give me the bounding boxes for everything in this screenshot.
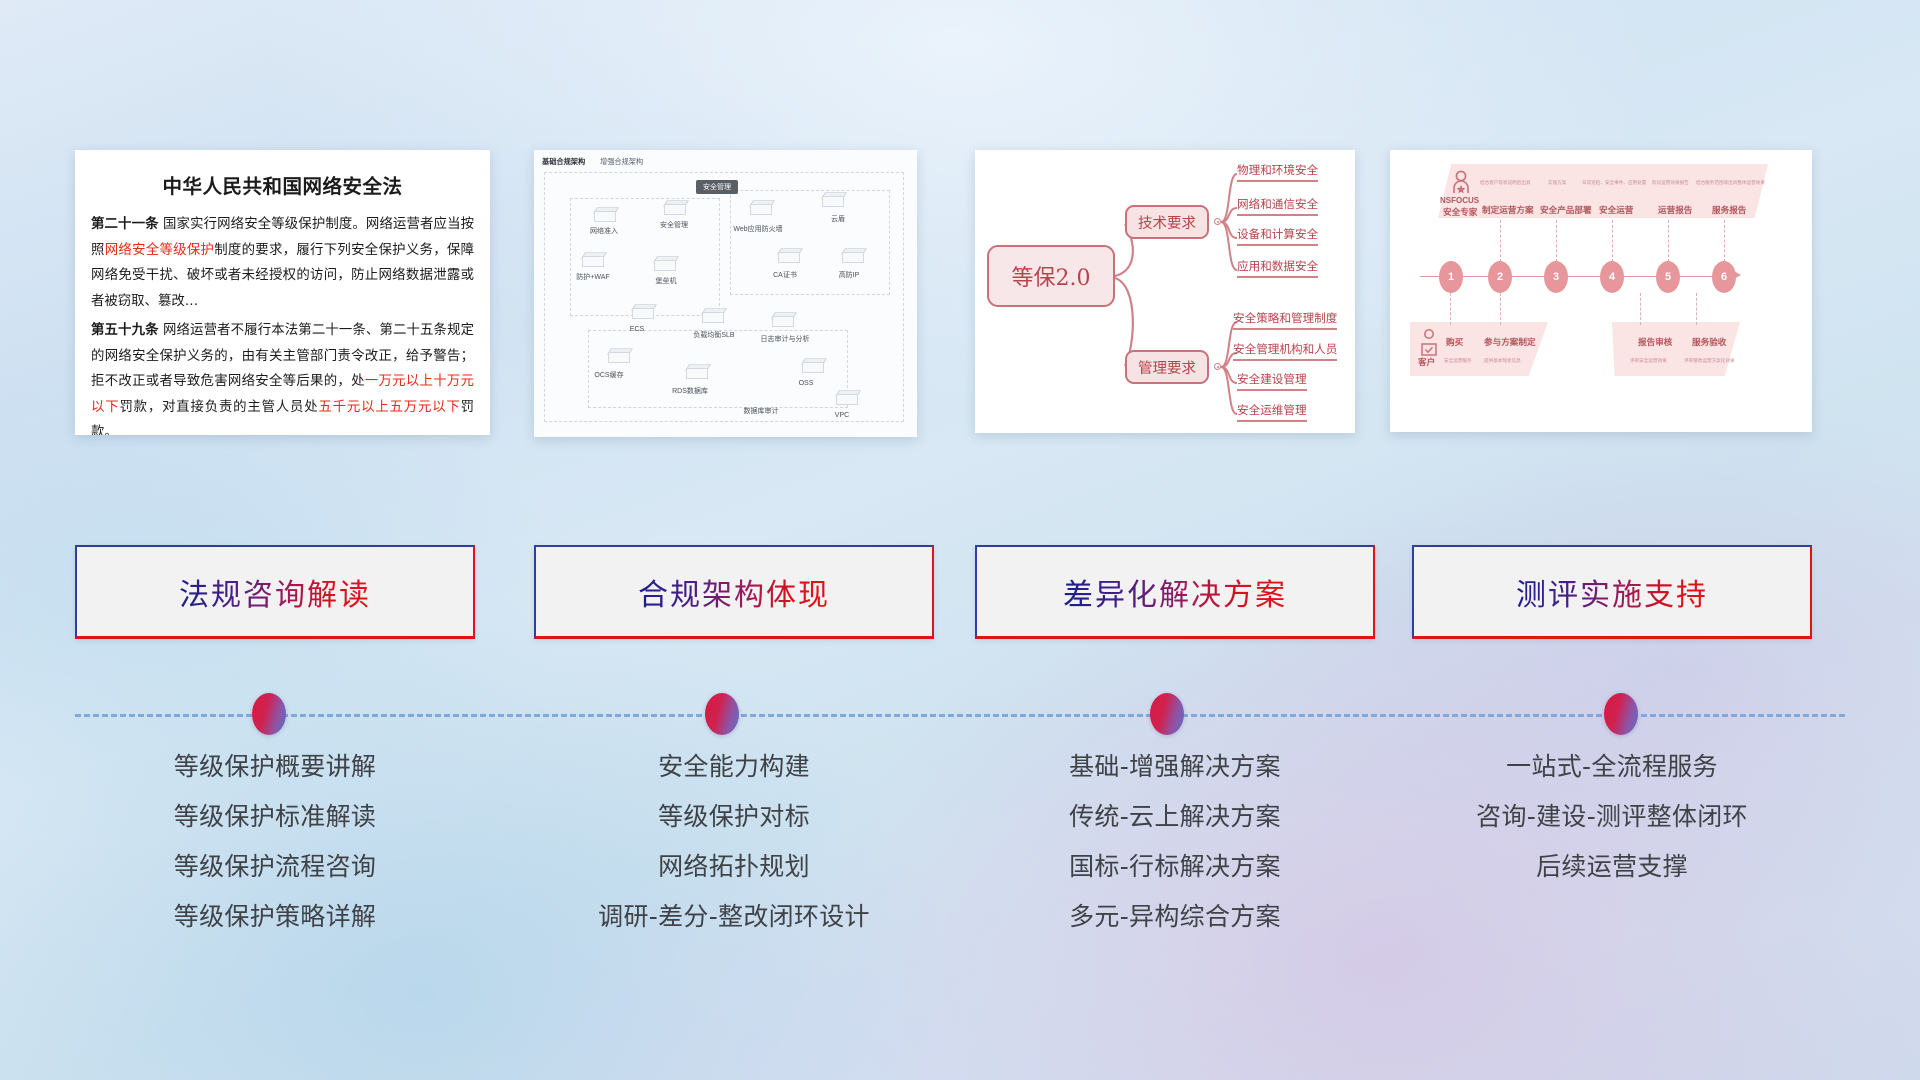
mindmap-collapse-icon-technical[interactable] xyxy=(1214,218,1221,225)
heading-label-1: 法规咨询解读 xyxy=(179,570,371,614)
roadmap-bottom-small-1: 安全运营服务 xyxy=(1444,358,1472,364)
mindmap-collapse-icon-management[interactable] xyxy=(1214,363,1221,370)
mindmap-leaf-m2[interactable]: 安全管理机构和人员 xyxy=(1233,341,1337,361)
roadmap-step-2[interactable]: 2 xyxy=(1488,261,1512,293)
arch-node-9: 负载均衡SLB xyxy=(674,330,754,340)
bullet-column-4: 一站式-全流程服务 咨询-建设-测评整体闭环 后续运营支撑 xyxy=(1412,742,1812,892)
list-item: 等级保护对标 xyxy=(534,792,934,842)
article-21-highlight: 网络安全等级保护 xyxy=(105,243,215,258)
bullet-column-1: 等级保护概要讲解 等级保护标准解读 等级保护流程咨询 等级保护策略详解 xyxy=(75,742,475,942)
arch-node-8: ECS xyxy=(612,326,662,333)
arch-node-6: CA证书 xyxy=(760,270,810,280)
arch-node-2: 防护+WAF xyxy=(562,272,624,282)
roadmap-step-3[interactable]: 3 xyxy=(1544,261,1568,293)
timeline-dashed-line xyxy=(75,714,1845,717)
list-item: 一站式-全流程服务 xyxy=(1412,742,1812,792)
arch-cube-10 xyxy=(700,306,726,324)
list-item: 等级保护标准解读 xyxy=(75,792,475,842)
expert-label-line2: 安全专家 xyxy=(1443,206,1477,218)
mindmap-root[interactable]: 等保2.0 xyxy=(987,245,1115,307)
roadmap-connector-2 xyxy=(1500,220,1501,262)
roadmap-top-small-1: 结合客户现状说明后出具 xyxy=(1480,180,1531,186)
mindmap-leaf-t1[interactable]: 物理和环境安全 xyxy=(1237,162,1318,182)
roadmap-connector-6b xyxy=(1696,293,1697,325)
roadmap-connector-5b xyxy=(1640,293,1641,325)
arch-node-12: RDS数据库 xyxy=(660,386,720,396)
heading-label-2: 合规架构体现 xyxy=(638,570,830,614)
list-item: 国标-行标解决方案 xyxy=(975,842,1375,892)
card-cloud-architecture[interactable]: 基础合规架构 增强合规架构 安全管理 网络准入 安全管理 防护+W xyxy=(534,150,917,437)
arch-cube-4 xyxy=(652,254,678,272)
arch-cube-8 xyxy=(840,246,866,264)
article-21-label: 第二十一条 xyxy=(91,217,159,232)
arch-cube-15 xyxy=(834,388,860,406)
arch-node-1: 安全管理 xyxy=(646,220,702,230)
heading-box-regulation-consulting[interactable]: 法规咨询解读 xyxy=(75,545,475,639)
arch-node-10: 日志审计与分析 xyxy=(750,334,820,344)
roadmap-top-big-2: 安全产品部署 xyxy=(1540,204,1592,216)
roadmap-top-small-5: 结合服务范围等出具整体运营效果 xyxy=(1696,180,1765,186)
arch-cube-14 xyxy=(800,356,826,374)
roadmap-diagram: NSFOCUS 安全专家 结合客户现状说明后出具 实施方案 日常巡检、安全事件、… xyxy=(1390,150,1812,432)
arch-cube-6 xyxy=(820,190,846,208)
expert-person-icon xyxy=(1446,168,1476,198)
heading-label-4: 测评实施支持 xyxy=(1516,570,1708,614)
arch-node-4: Web应用防火墙 xyxy=(720,224,796,234)
roadmap-step-5[interactable]: 5 xyxy=(1656,261,1680,293)
roadmap-top-small-4: 阶段运营效果报告 xyxy=(1652,180,1689,186)
arch-cube-7 xyxy=(776,246,802,264)
arch-cube-11 xyxy=(770,310,796,328)
bullet-column-2: 安全能力构建 等级保护对标 网络拓扑规划 调研-差分-整改闭环设计 xyxy=(534,742,934,942)
bullet-column-3: 基础-增强解决方案 传统-云上解决方案 国标-行标解决方案 多元-异构综合方案 xyxy=(975,742,1375,942)
article-59-label: 第五十九条 xyxy=(91,323,159,338)
card-service-roadmap[interactable]: NSFOCUS 安全专家 结合客户现状说明后出具 实施方案 日常巡检、安全事件、… xyxy=(1390,150,1812,432)
article-59-text-b: 罚款，对直接负责的主管人员处 xyxy=(119,400,318,415)
mindmap-leaf-m3[interactable]: 安全建设管理 xyxy=(1237,371,1307,391)
list-item: 网络拓扑规划 xyxy=(534,842,934,892)
arch-chip-security-management: 安全管理 xyxy=(696,180,738,194)
roadmap-step-1[interactable]: 1 xyxy=(1439,261,1463,293)
roadmap-connector-5 xyxy=(1668,220,1669,262)
list-item: 调研-差分-整改闭环设计 xyxy=(534,892,934,942)
roadmap-connector-3 xyxy=(1556,220,1557,262)
roadmap-top-small-3: 日常巡检、安全事件、应用处置 xyxy=(1582,180,1646,186)
arch-tab-basic[interactable]: 基础合规架构 xyxy=(542,157,585,167)
roadmap-bottom-big-3: 报告审核 xyxy=(1638,336,1672,348)
arch-node-13: OSS xyxy=(784,380,828,387)
roadmap-step-6[interactable]: 6 xyxy=(1712,261,1736,293)
timeline-dot-1[interactable] xyxy=(252,693,286,735)
arch-node-11: OCS缓存 xyxy=(582,370,636,380)
expert-label-line1: NSFOCUS xyxy=(1440,196,1479,205)
card-mindmap-dengbao[interactable]: 等保2.0 技术要求 管理要求 物理和环境安全 网络和通信安全 设备和计算安全 … xyxy=(975,150,1355,433)
law-article-21: 第二十一条 国家实行网络安全等级保护制度。网络运营者应当按照网络安全等级保护制度… xyxy=(91,212,474,314)
list-item: 多元-异构综合方案 xyxy=(975,892,1375,942)
heading-row: 法规咨询解读 合规架构体现 差异化解决方案 测评实施支持 xyxy=(0,545,1920,645)
mindmap-leaf-t3[interactable]: 设备和计算安全 xyxy=(1237,226,1318,246)
heading-box-assessment-support[interactable]: 测评实施支持 xyxy=(1412,545,1812,639)
list-item: 传统-云上解决方案 xyxy=(975,792,1375,842)
roadmap-connector-1b xyxy=(1450,293,1451,325)
roadmap-bottom-big-4: 服务验收 xyxy=(1692,336,1726,348)
list-item: 咨询-建设-测评整体闭环 xyxy=(1412,792,1812,842)
list-item: 等级保护策略详解 xyxy=(75,892,475,942)
roadmap-bottom-small-2: 提供基本现状信息 xyxy=(1484,358,1521,364)
card-cybersecurity-law[interactable]: 中华人民共和国网络安全法 第二十一条 国家实行网络安全等级保护制度。网络运营者应… xyxy=(75,150,490,435)
law-article-59: 第五十九条 网络运营者不履行本法第二十一条、第二十五条规定的网络安全保护义务的，… xyxy=(91,318,474,435)
list-item: 安全能力构建 xyxy=(534,742,934,792)
arch-cube-1 xyxy=(592,205,618,223)
law-text-block: 中华人民共和国网络安全法 第二十一条 国家实行网络安全等级保护制度。网络运营者应… xyxy=(75,150,490,435)
roadmap-top-small-2: 实施方案 xyxy=(1548,180,1566,186)
roadmap-top-big-1: 制定运营方案 xyxy=(1482,204,1534,216)
arch-cube-13 xyxy=(684,362,710,380)
roadmap-axis-line xyxy=(1420,276,1736,277)
architecture-diagram: 基础合规架构 增强合规架构 安全管理 网络准入 安全管理 防护+W xyxy=(534,150,917,437)
arch-node-5: 云盾 xyxy=(816,214,860,224)
bullet-column-row: 等级保护概要讲解 等级保护标准解读 等级保护流程咨询 等级保护策略详解 安全能力… xyxy=(0,742,1920,1002)
roadmap-top-big-3: 安全运营 xyxy=(1599,204,1633,216)
timeline-dot-4[interactable] xyxy=(1604,693,1638,735)
list-item: 后续运营支撑 xyxy=(1412,842,1812,892)
heading-box-differentiated-solution[interactable]: 差异化解决方案 xyxy=(975,545,1375,639)
arch-cube-12 xyxy=(606,346,632,364)
list-item: 等级保护概要讲解 xyxy=(75,742,475,792)
roadmap-connector-6 xyxy=(1724,220,1725,262)
roadmap-connector-4 xyxy=(1612,220,1613,262)
heading-label-3: 差异化解决方案 xyxy=(1063,570,1287,614)
roadmap-step-4[interactable]: 4 xyxy=(1600,261,1624,293)
list-item: 等级保护流程咨询 xyxy=(75,842,475,892)
arch-node-3: 堡垒机 xyxy=(638,276,694,286)
heading-box-compliance-architecture[interactable]: 合规架构体现 xyxy=(534,545,934,639)
article-59-highlight-b: 五千元以上五万元以下 xyxy=(318,400,460,415)
mindmap-leaf-t2[interactable]: 网络和通信安全 xyxy=(1237,196,1318,216)
mindmap-branch-management[interactable]: 管理要求 xyxy=(1125,350,1209,384)
arch-cube-9 xyxy=(630,302,656,320)
roadmap-bottom-big-2: 参与方案制定 xyxy=(1484,336,1536,348)
roadmap-top-big-4: 运营报告 xyxy=(1658,204,1692,216)
roadmap-bottom-small-4: 评审整改运营方案化效果 xyxy=(1684,358,1735,364)
timeline-dot-3[interactable] xyxy=(1150,693,1184,735)
arch-node-7: 高防IP xyxy=(826,270,872,280)
timeline-dot-2[interactable] xyxy=(705,693,739,735)
law-title: 中华人民共和国网络安全法 xyxy=(91,170,474,199)
arch-tab-enhanced[interactable]: 增强合规架构 xyxy=(600,157,643,167)
arch-node-14: VPC xyxy=(822,412,862,419)
mindmap-leaf-m1[interactable]: 安全策略和管理制度 xyxy=(1233,310,1337,330)
arch-cube-3 xyxy=(580,250,606,268)
timeline xyxy=(0,693,1920,737)
image-card-row: 中华人民共和国网络安全法 第二十一条 国家实行网络安全等级保护制度。网络运营者应… xyxy=(0,150,1920,440)
arch-cube-2 xyxy=(662,198,688,216)
roadmap-top-big-5: 服务报告 xyxy=(1712,204,1746,216)
mindmap-leaf-t4[interactable]: 应用和数据安全 xyxy=(1237,258,1318,278)
roadmap-connector-2b xyxy=(1500,293,1501,325)
arch-node-0: 网络准入 xyxy=(576,226,632,236)
mindmap-leaf-m4[interactable]: 安全运维管理 xyxy=(1237,402,1307,422)
roadmap-band-customer-right xyxy=(1612,322,1740,376)
roadmap-bottom-small-3: 评审安全运营效果 xyxy=(1630,358,1667,364)
mindmap-diagram: 等保2.0 技术要求 管理要求 物理和环境安全 网络和通信安全 设备和计算安全 … xyxy=(975,150,1355,433)
list-item: 基础-增强解决方案 xyxy=(975,742,1375,792)
arch-cube-5 xyxy=(748,198,774,216)
mindmap-branch-technical[interactable]: 技术要求 xyxy=(1125,205,1209,239)
arch-node-15: 数据库审计 xyxy=(730,406,792,416)
customer-label: 客户 xyxy=(1418,356,1435,368)
roadmap-bottom-big-1: 购买 xyxy=(1446,336,1463,348)
